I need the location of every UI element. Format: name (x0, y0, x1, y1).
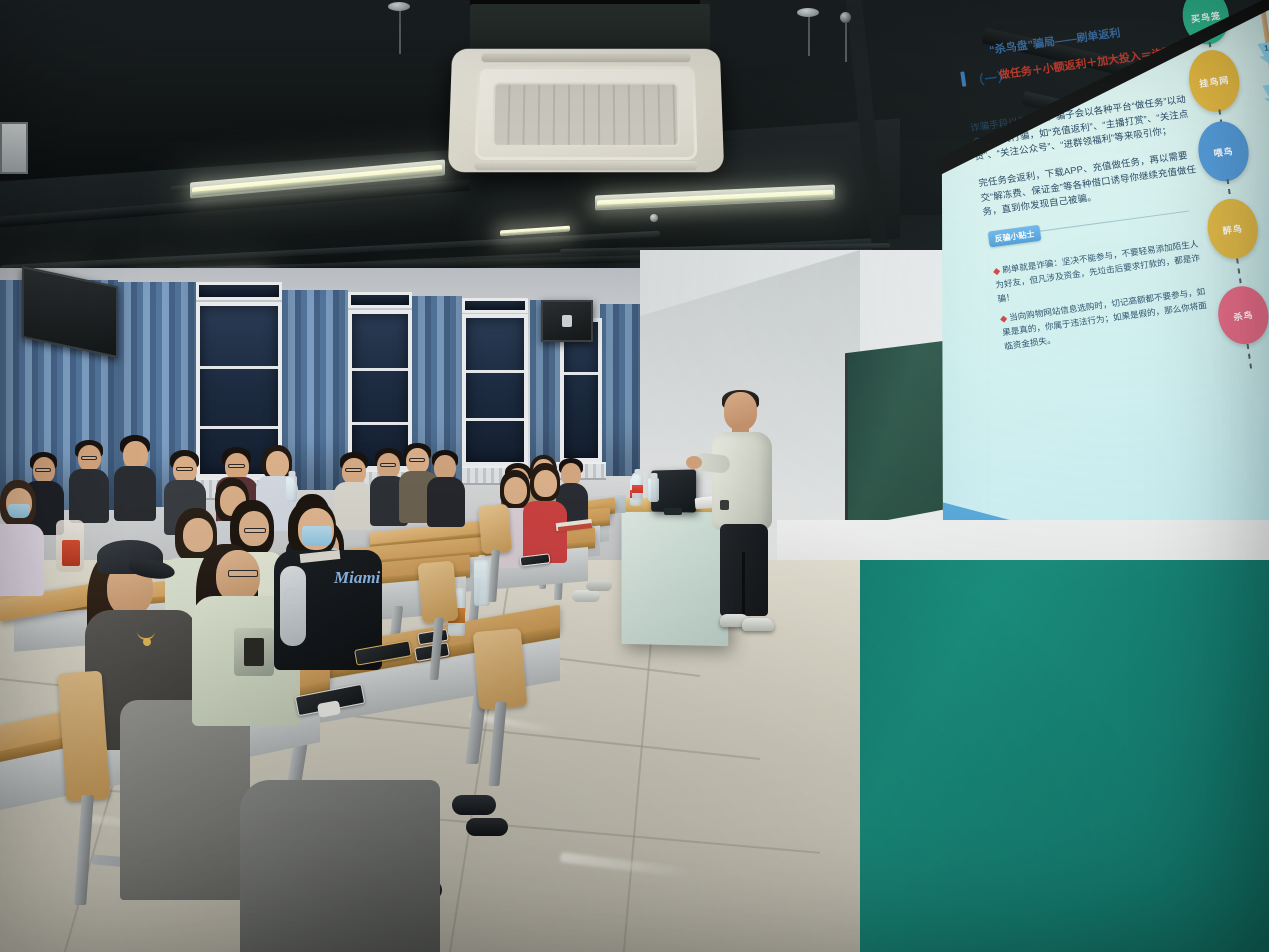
flow-bubble-1-label: 买鸟笼 (1190, 8, 1222, 25)
wristwatch (720, 500, 729, 510)
flow-link-4 (1236, 258, 1242, 288)
classroom-photo: “杀鸟盘”骗局——刷单返利 （一） 做任务＋小额返利＋加大投入＝诈骗 诈骗手段 … (0, 0, 1269, 952)
window-2 (348, 310, 412, 470)
student-shoe-2 (586, 580, 612, 591)
bullet-dot-icon-2: ◆ (1000, 313, 1008, 324)
lecturer (700, 392, 786, 637)
water-bottle-4[interactable] (632, 474, 643, 500)
fire-sprinkler-icon-2 (650, 214, 658, 222)
lecturer-hand (686, 456, 702, 469)
flow-step-1-number: 1 (1264, 43, 1269, 53)
chair-mid-1[interactable] (417, 561, 458, 624)
flow-bubble-5-label: 杀鸟 (1232, 307, 1254, 323)
student-front-jeans (240, 780, 440, 952)
student-shoe-3 (452, 795, 496, 815)
chair-mid-3[interactable] (473, 628, 528, 710)
flow-bubble-3: 喂鸟 (1194, 118, 1252, 184)
flow-bubble-2-label: 挂鸟网 (1198, 73, 1230, 90)
transom-window-1 (196, 282, 282, 300)
window-3 (462, 314, 528, 466)
tea-bottle[interactable] (62, 540, 80, 566)
wall-panel-box (0, 122, 28, 174)
lecturer-shirt (712, 432, 772, 530)
flow-step-1: 1 (1257, 42, 1269, 65)
flow-bubble-4: 醉鸟 (1204, 196, 1262, 262)
flow-bubble-5: 杀鸟 (1214, 283, 1269, 347)
water-bottle-3[interactable] (286, 476, 297, 502)
flow-link-5 (1247, 344, 1253, 370)
lecturer-shoe-right (742, 618, 774, 631)
flow-bubble-4-label: 醉鸟 (1222, 221, 1244, 237)
student-front-legs (120, 700, 250, 900)
pendant-sensor-icon-2 (797, 8, 819, 17)
wall-speaker-icon (541, 300, 593, 342)
pendant-rod-2 (808, 14, 810, 56)
pendant-rod-1 (399, 8, 401, 54)
monitor-stand (664, 508, 682, 515)
lecturer-leg-gap (742, 552, 745, 614)
ceiling-ac-unit-icon (448, 49, 725, 172)
window-curtain-6 (600, 304, 640, 476)
pendant-sensor-icon (388, 2, 410, 11)
chair-front-1[interactable] (58, 671, 111, 802)
transom-window-2 (348, 292, 412, 308)
slide-tip-tag: 反骗小贴士 (988, 225, 1042, 248)
flow-link-3 (1227, 179, 1232, 201)
flow-step-2: 2 (1262, 83, 1269, 106)
water-bottle-5[interactable] (648, 478, 659, 502)
transom-window-3 (462, 298, 528, 313)
chair-mid-2[interactable] (478, 504, 512, 554)
slide-title-tick (960, 71, 966, 86)
student-shoe-4 (466, 818, 508, 836)
student-shoe-1 (572, 590, 600, 602)
flow-bubble-2: 挂鸟网 (1185, 47, 1244, 115)
bullet-dot-icon: ◆ (993, 265, 1001, 276)
sprinkler-drop-pipe (845, 22, 847, 62)
flow-bubble-3-label: 喂鸟 (1213, 144, 1235, 160)
